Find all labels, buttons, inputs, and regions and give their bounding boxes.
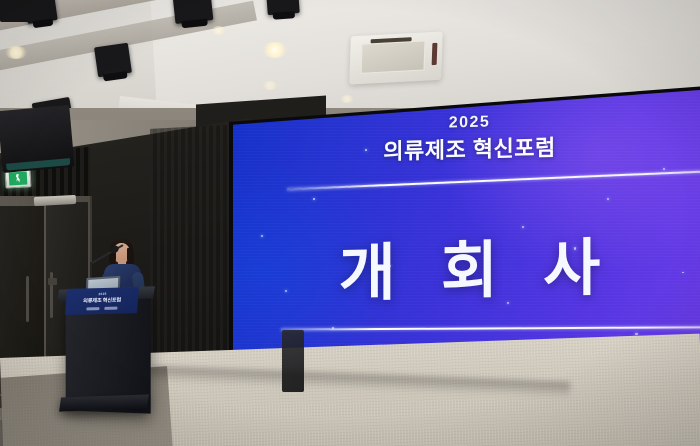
podium-sign-title: 의류제조 혁신포럼 bbox=[83, 296, 121, 304]
downlight-icon bbox=[340, 95, 354, 103]
wall-speaker-icon bbox=[0, 0, 30, 22]
downlight-icon bbox=[262, 81, 278, 90]
downlight-icon bbox=[5, 46, 27, 59]
ac-vent bbox=[432, 42, 438, 64]
stage-light-icon bbox=[266, 0, 299, 15]
downlight-icon bbox=[262, 42, 288, 58]
exit-pictogram bbox=[9, 171, 28, 185]
stage-light-icon bbox=[94, 43, 132, 77]
conference-hall-photo: 2025 의류제조 혁신포럼 개 회 사 주최 산업통상부 주관 한국패션협회 bbox=[0, 0, 700, 446]
floor-speaker-icon bbox=[282, 330, 304, 392]
podium-sign-year: 2025 bbox=[98, 292, 107, 296]
podium-sign-logos bbox=[86, 307, 117, 311]
door-handle[interactable] bbox=[26, 276, 29, 322]
wall-speaker-icon bbox=[0, 105, 75, 173]
wall-vent bbox=[48, 278, 57, 285]
downlight-icon bbox=[211, 26, 226, 35]
podium-sign-logo bbox=[86, 307, 99, 310]
running-person-icon bbox=[15, 173, 20, 182]
ceiling-ac-icon bbox=[349, 32, 443, 85]
stage-light-icon bbox=[173, 0, 214, 24]
podium-sign-logo bbox=[104, 307, 117, 310]
podium-sign: 2025 의류제조 혁신포럼 bbox=[65, 287, 139, 315]
ac-grille bbox=[361, 40, 426, 74]
